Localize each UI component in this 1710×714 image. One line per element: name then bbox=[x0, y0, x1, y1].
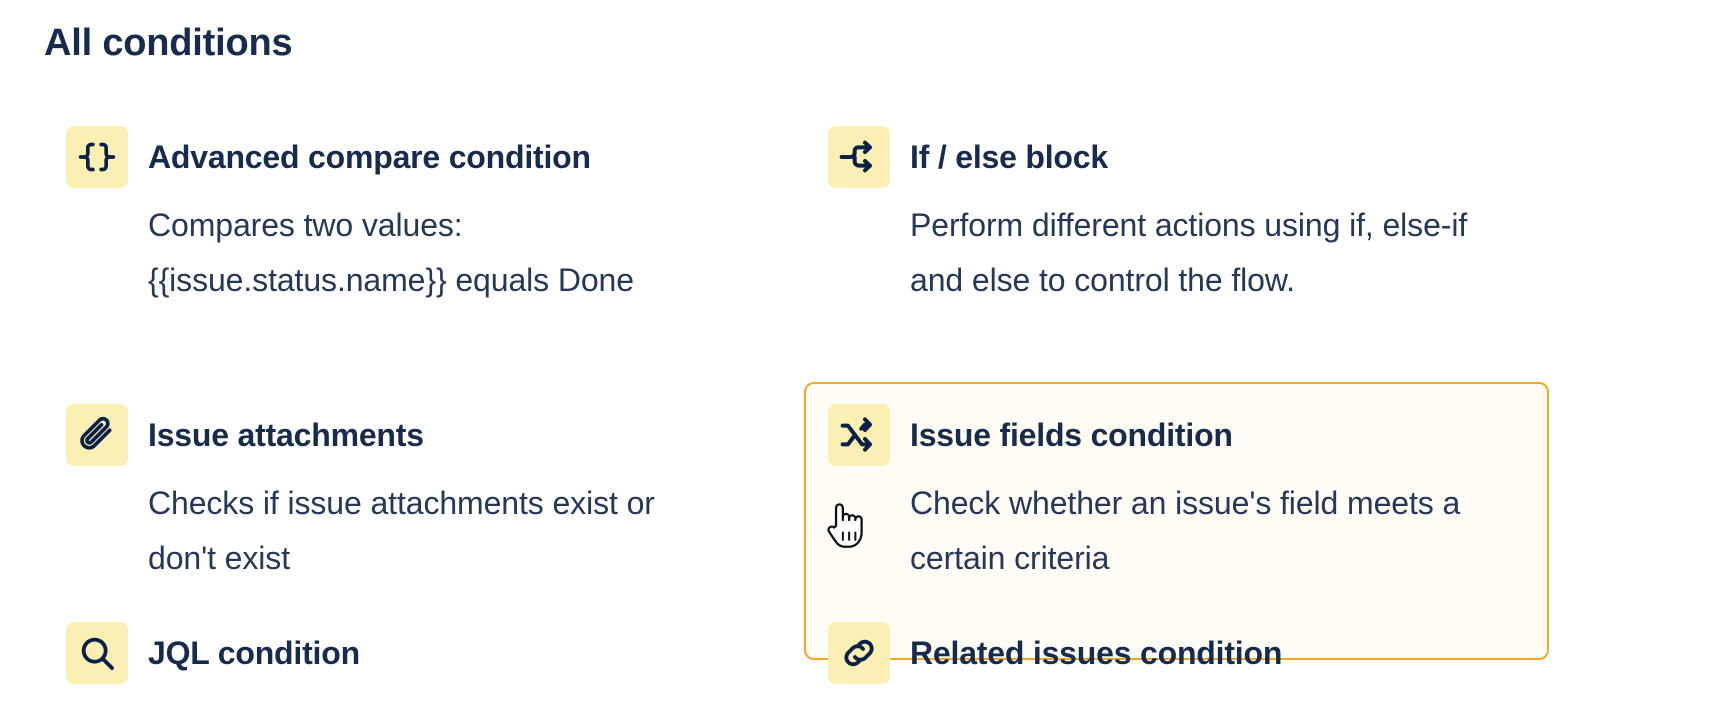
condition-title: Issue attachments bbox=[148, 404, 424, 466]
condition-card-related-issues-condition[interactable]: Related issues condition bbox=[804, 620, 1549, 708]
condition-description: Checks if issue attachments exist or don… bbox=[148, 476, 728, 586]
card-header: Issue fields condition bbox=[828, 404, 1523, 466]
condition-card-issue-fields-condition[interactable]: Issue fields condition Check whether an … bbox=[804, 382, 1549, 660]
condition-card-if-else-block[interactable]: If / else block Perform different action… bbox=[804, 104, 1549, 382]
condition-description: Perform different actions using if, else… bbox=[910, 198, 1520, 308]
condition-title: If / else block bbox=[910, 126, 1108, 188]
paperclip-icon bbox=[66, 404, 128, 466]
shuffle-arrows-icon bbox=[828, 404, 890, 466]
next-row-grid: JQL condition Related issues condition bbox=[0, 620, 1710, 708]
card-header: Issue attachments bbox=[66, 404, 756, 466]
link-chain-icon bbox=[828, 622, 890, 684]
condition-card-jql-condition[interactable]: JQL condition bbox=[42, 620, 782, 708]
condition-card-issue-attachments[interactable]: Issue attachments Checks if issue attach… bbox=[42, 382, 782, 660]
all-conditions-panel: All conditions Advanced compare conditio… bbox=[0, 0, 1710, 714]
card-header: Related issues condition bbox=[828, 622, 1523, 684]
card-header: If / else block bbox=[828, 126, 1523, 188]
condition-title: Issue fields condition bbox=[910, 404, 1233, 466]
card-header: Advanced compare condition bbox=[66, 126, 756, 188]
conditions-grid-next-row: JQL condition Related issues condition bbox=[0, 620, 1710, 714]
condition-title: JQL condition bbox=[148, 622, 360, 684]
condition-description: Check whether an issue's field meets a c… bbox=[910, 476, 1520, 586]
condition-description: Compares two values: {{issue.status.name… bbox=[148, 198, 728, 308]
card-header: JQL condition bbox=[66, 622, 756, 684]
curly-braces-icon bbox=[66, 126, 128, 188]
condition-title: Related issues condition bbox=[910, 622, 1282, 684]
condition-title: Advanced compare condition bbox=[148, 126, 591, 188]
magnifier-icon bbox=[66, 622, 128, 684]
page-title: All conditions bbox=[44, 20, 292, 68]
condition-card-advanced-compare-condition[interactable]: Advanced compare condition Compares two … bbox=[42, 104, 782, 382]
conditions-grid: Advanced compare condition Compares two … bbox=[0, 104, 1710, 660]
branch-fork-icon bbox=[828, 126, 890, 188]
